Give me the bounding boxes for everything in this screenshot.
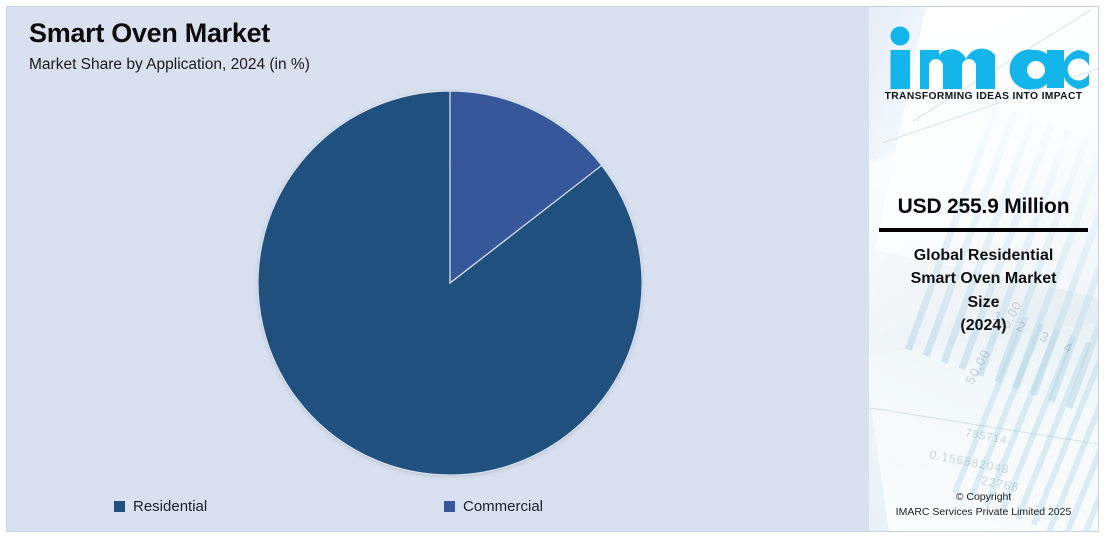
chart-heading-group: Smart Oven Market Market Share by Applic… [29,17,310,75]
legend-item-residential[interactable]: Residential [102,499,444,514]
copyright-line: © Copyright [896,490,1072,505]
legend-item-commercial[interactable]: Commercial [444,499,774,514]
stat-caption-line: (2024) [876,314,1092,337]
stat-caption-line: Global Residential [876,244,1092,267]
chart-subtitle: Market Share by Application, 2024 (in %) [29,55,310,75]
brand-content: TRANSFORMING IDEAS INTO IMPACT USD 255.9… [869,7,1098,531]
stat-caption: Global Residential Smart Oven Market Siz… [876,244,1092,337]
stat-divider [879,228,1088,232]
stat-caption-line: Size [876,291,1092,314]
pie-chart [258,91,642,475]
imarc-logo-icon [876,23,1089,95]
figure-canvas: Smart Oven Market Market Share by Applic… [6,6,1099,532]
pie-chart-svg [258,91,642,475]
stat-caption-line: Smart Oven Market [876,267,1092,290]
legend-item-label: Residential [133,499,207,514]
copyright-notice: © Copyright IMARC Services Private Limit… [896,490,1072,520]
legend-square-icon [444,501,455,512]
copyright-line: IMARC Services Private Limited 2025 [896,505,1072,520]
stat-value: USD 255.9 Million [876,194,1092,219]
brand-tagline: TRANSFORMING IDEAS INTO IMPACT [876,91,1091,102]
page-title: Smart Oven Market [29,17,310,51]
stat-block: USD 255.9 Million Global Residential Sma… [876,194,1092,337]
legend-item-label: Commercial [463,499,543,514]
legend-square-icon [114,501,125,512]
chart-legend: Residential Commercial [7,499,869,514]
chart-pane: Smart Oven Market Market Share by Applic… [7,7,869,531]
brand-pane: 50,00 0,00 1 2 3 4 0.156882048 22768 785… [869,7,1098,531]
figure-frame: Smart Oven Market Market Share by Applic… [0,0,1105,538]
brand-logo[interactable]: TRANSFORMING IDEAS INTO IMPACT [876,23,1091,102]
